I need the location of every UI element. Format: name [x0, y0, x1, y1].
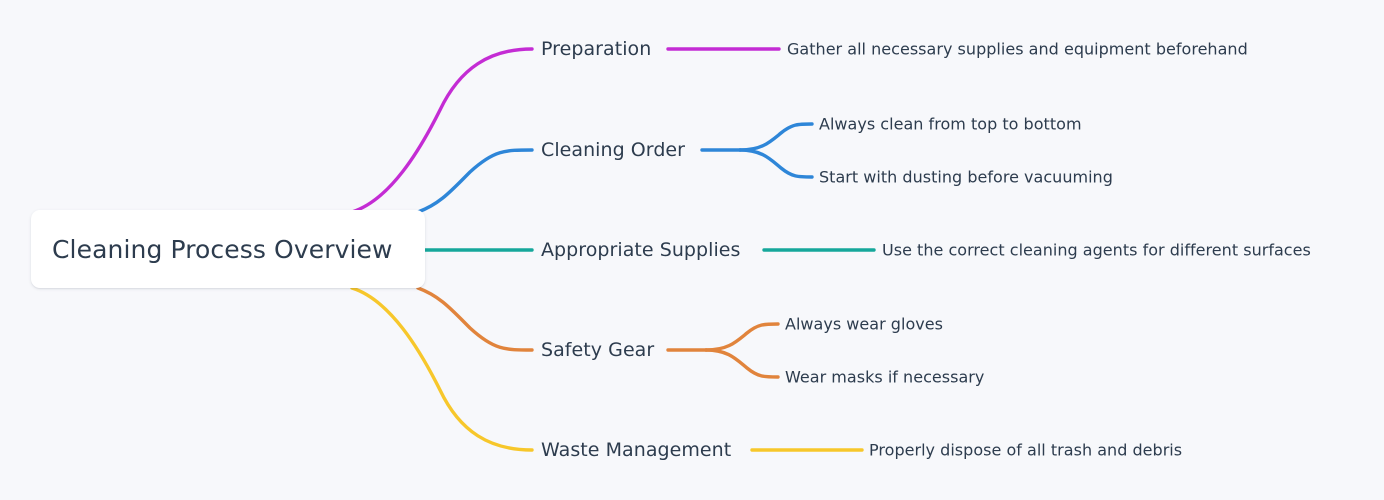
leaf-label-waste-management-1[interactable]: Properly dispose of all trash and debris — [869, 441, 1182, 460]
leaf-label-cleaning-order-1[interactable]: Always clean from top to bottom — [819, 115, 1082, 134]
leaf-label-cleaning-order-2[interactable]: Start with dusting before vacuuming — [819, 168, 1113, 187]
leaf-label-appropriate-supplies-1[interactable]: Use the correct cleaning agents for diff… — [882, 241, 1311, 260]
leaf-label-safety-gear-1[interactable]: Always wear gloves — [785, 315, 943, 334]
edge-root-cleaning-order — [418, 150, 532, 212]
branch-label-appropriate-supplies[interactable]: Appropriate Supplies — [541, 239, 740, 261]
root-node[interactable]: Cleaning Process Overview — [31, 210, 425, 288]
branch-label-cleaning-order[interactable]: Cleaning Order — [541, 139, 685, 161]
edge-root-safety-gear — [418, 288, 532, 350]
edge-root-waste-management — [352, 288, 532, 450]
branch-label-waste-management[interactable]: Waste Management — [541, 439, 731, 461]
branch-label-safety-gear[interactable]: Safety Gear — [541, 339, 654, 361]
edge-safety-gear-leaf-2 — [706, 350, 778, 377]
leaf-label-safety-gear-2[interactable]: Wear masks if necessary — [785, 368, 984, 387]
edge-cleaning-order-leaf-2 — [740, 150, 812, 177]
edge-cleaning-order-leaf-1 — [740, 124, 812, 150]
mindmap-canvas: Cleaning Process Overview PreparationGat… — [0, 0, 1384, 500]
leaf-label-preparation-1[interactable]: Gather all necessary supplies and equipm… — [787, 40, 1248, 59]
root-node-label: Cleaning Process Overview — [52, 235, 393, 264]
edge-safety-gear-leaf-1 — [706, 324, 778, 350]
edge-root-preparation — [352, 49, 532, 212]
branch-label-preparation[interactable]: Preparation — [541, 38, 651, 60]
